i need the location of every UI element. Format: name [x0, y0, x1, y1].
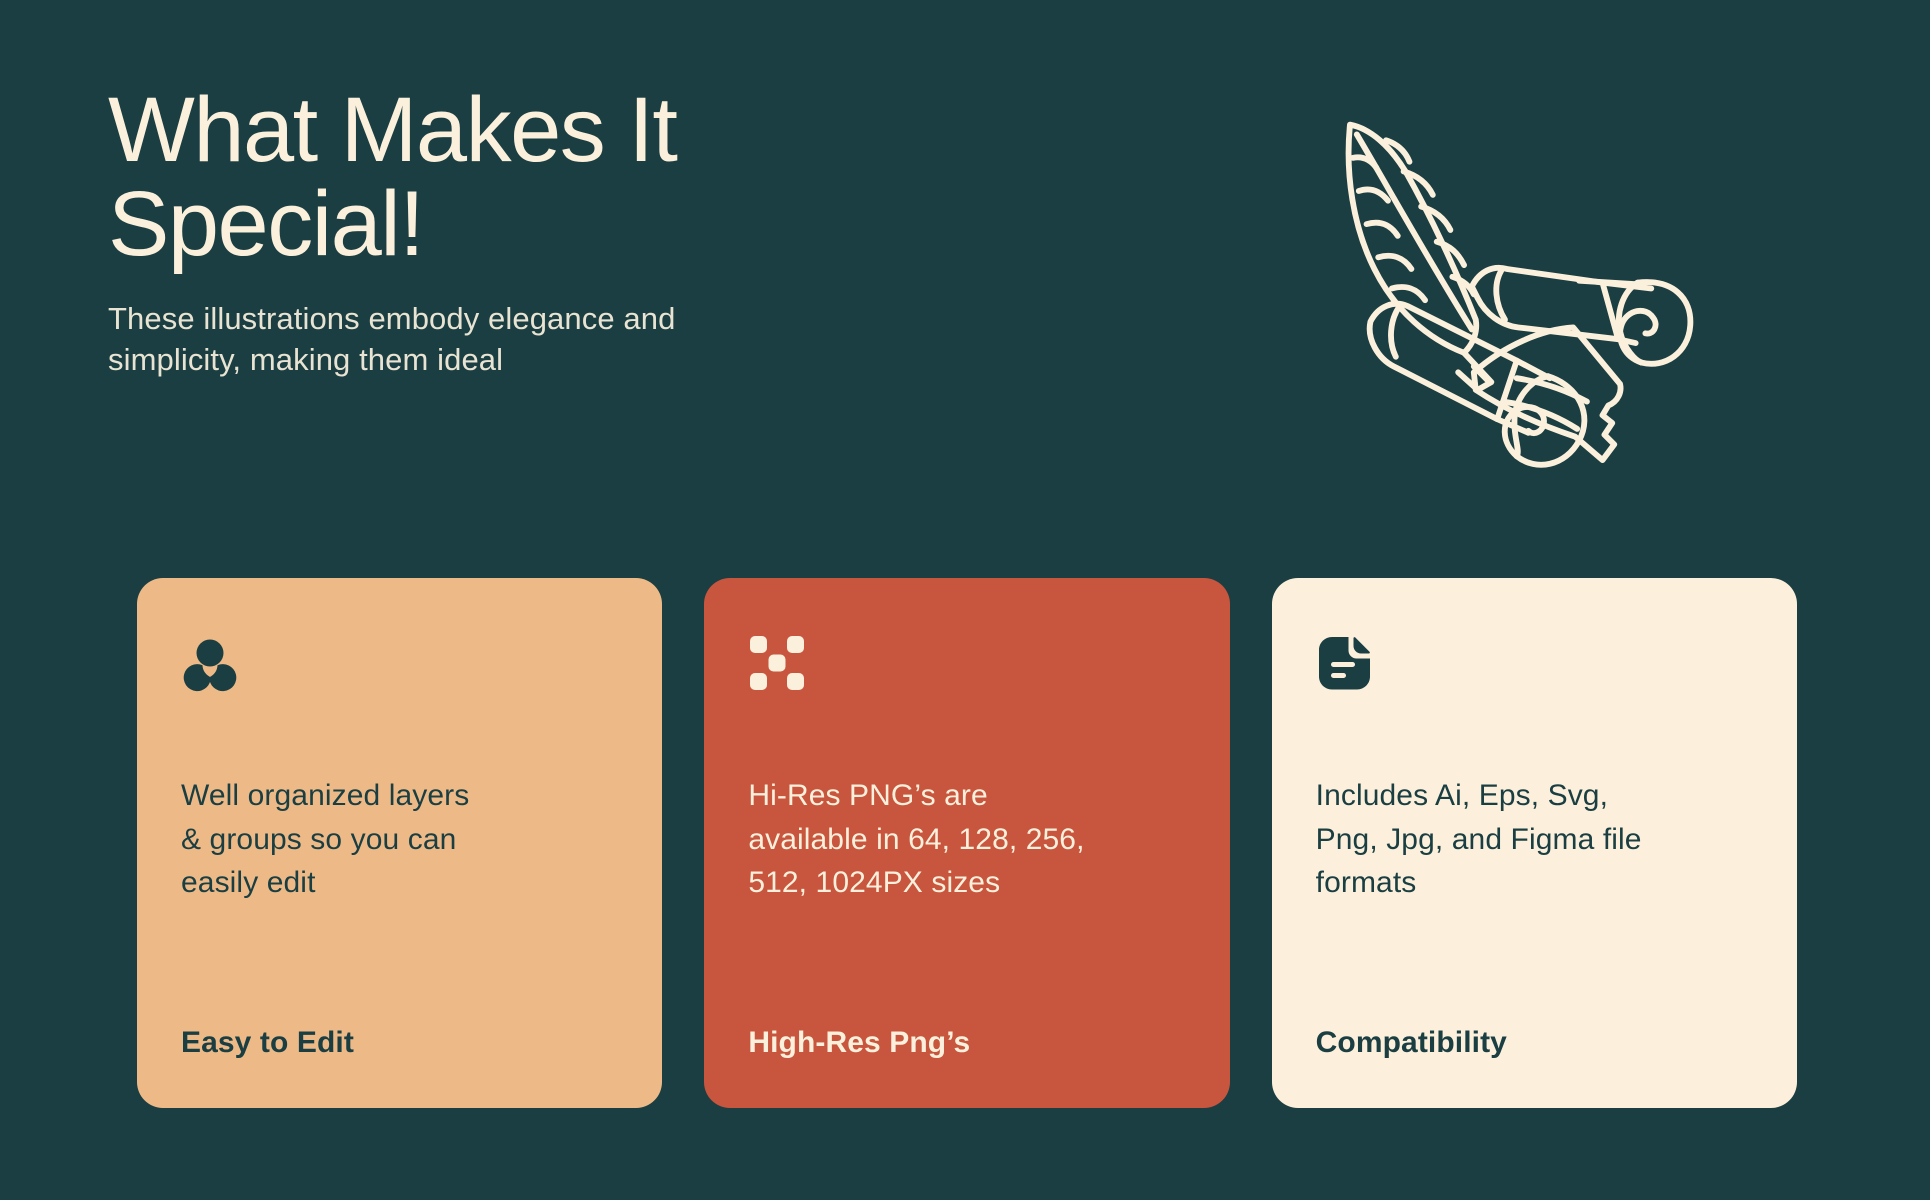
header-block: What Makes It Special! These illustratio… — [108, 84, 928, 380]
feature-card-body: Hi-Res PNG’s are available in 64, 128, 2… — [748, 774, 1185, 905]
feature-card-title: Easy to Edit — [181, 1026, 618, 1060]
feature-card-easy-to-edit[interactable]: Well organized layers & groups so you ca… — [137, 578, 662, 1108]
feature-card-title: High-Res Png’s — [748, 1026, 1185, 1060]
color-circles-icon — [181, 634, 239, 692]
feature-card-title: Compatibility — [1316, 1026, 1753, 1060]
document-file-glyph — [1316, 634, 1374, 692]
page-subtitle: These illustrations embody elegance and … — [108, 298, 928, 380]
pixel-squares-icon — [748, 634, 806, 692]
slide-canvas: What Makes It Special! These illustratio… — [0, 0, 1930, 1200]
pixel-squares-glyph — [748, 634, 806, 692]
feature-card-body: Includes Ai, Eps, Svg, Png, Jpg, and Fig… — [1316, 774, 1753, 905]
color-circles-glyph — [181, 634, 239, 692]
document-file-icon — [1316, 634, 1374, 692]
feature-card-compatibility[interactable]: Includes Ai, Eps, Svg, Png, Jpg, and Fig… — [1272, 578, 1797, 1108]
quill-and-scrolls-illustration — [1310, 95, 1700, 480]
feature-card-high-res-pngs[interactable]: Hi-Res PNG’s are available in 64, 128, 2… — [704, 578, 1229, 1108]
feature-cards: Well organized layers & groups so you ca… — [137, 578, 1797, 1108]
feature-card-body: Well organized layers & groups so you ca… — [181, 774, 618, 905]
quill-scroll-artwork — [1310, 95, 1700, 480]
page-title: What Makes It Special! — [108, 84, 928, 272]
